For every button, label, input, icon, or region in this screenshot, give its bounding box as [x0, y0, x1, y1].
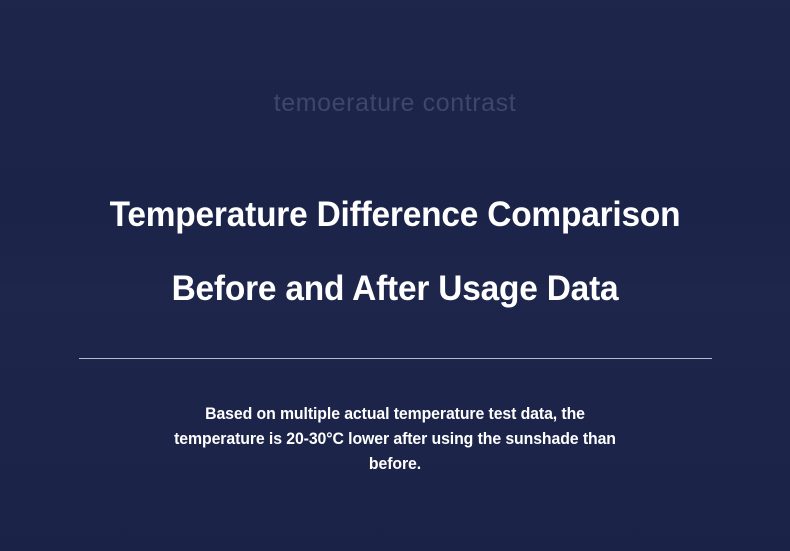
slide-canvas: temoerature contrast Temperature Differe… [0, 0, 790, 551]
page-title: Temperature Difference Comparison Before… [18, 178, 772, 326]
watermark-text: temoerature contrast [0, 86, 790, 120]
divider [79, 358, 712, 359]
subtitle-line-3: before. [69, 452, 722, 477]
page-title-line-2: Before and After Usage Data [18, 252, 772, 326]
subtitle-text: Based on multiple actual temperature tes… [69, 402, 722, 477]
page-title-line-1: Temperature Difference Comparison [18, 178, 772, 252]
subtitle-line-1: Based on multiple actual temperature tes… [69, 402, 722, 427]
subtitle-line-2: temperature is 20-30°C lower after using… [69, 427, 722, 452]
